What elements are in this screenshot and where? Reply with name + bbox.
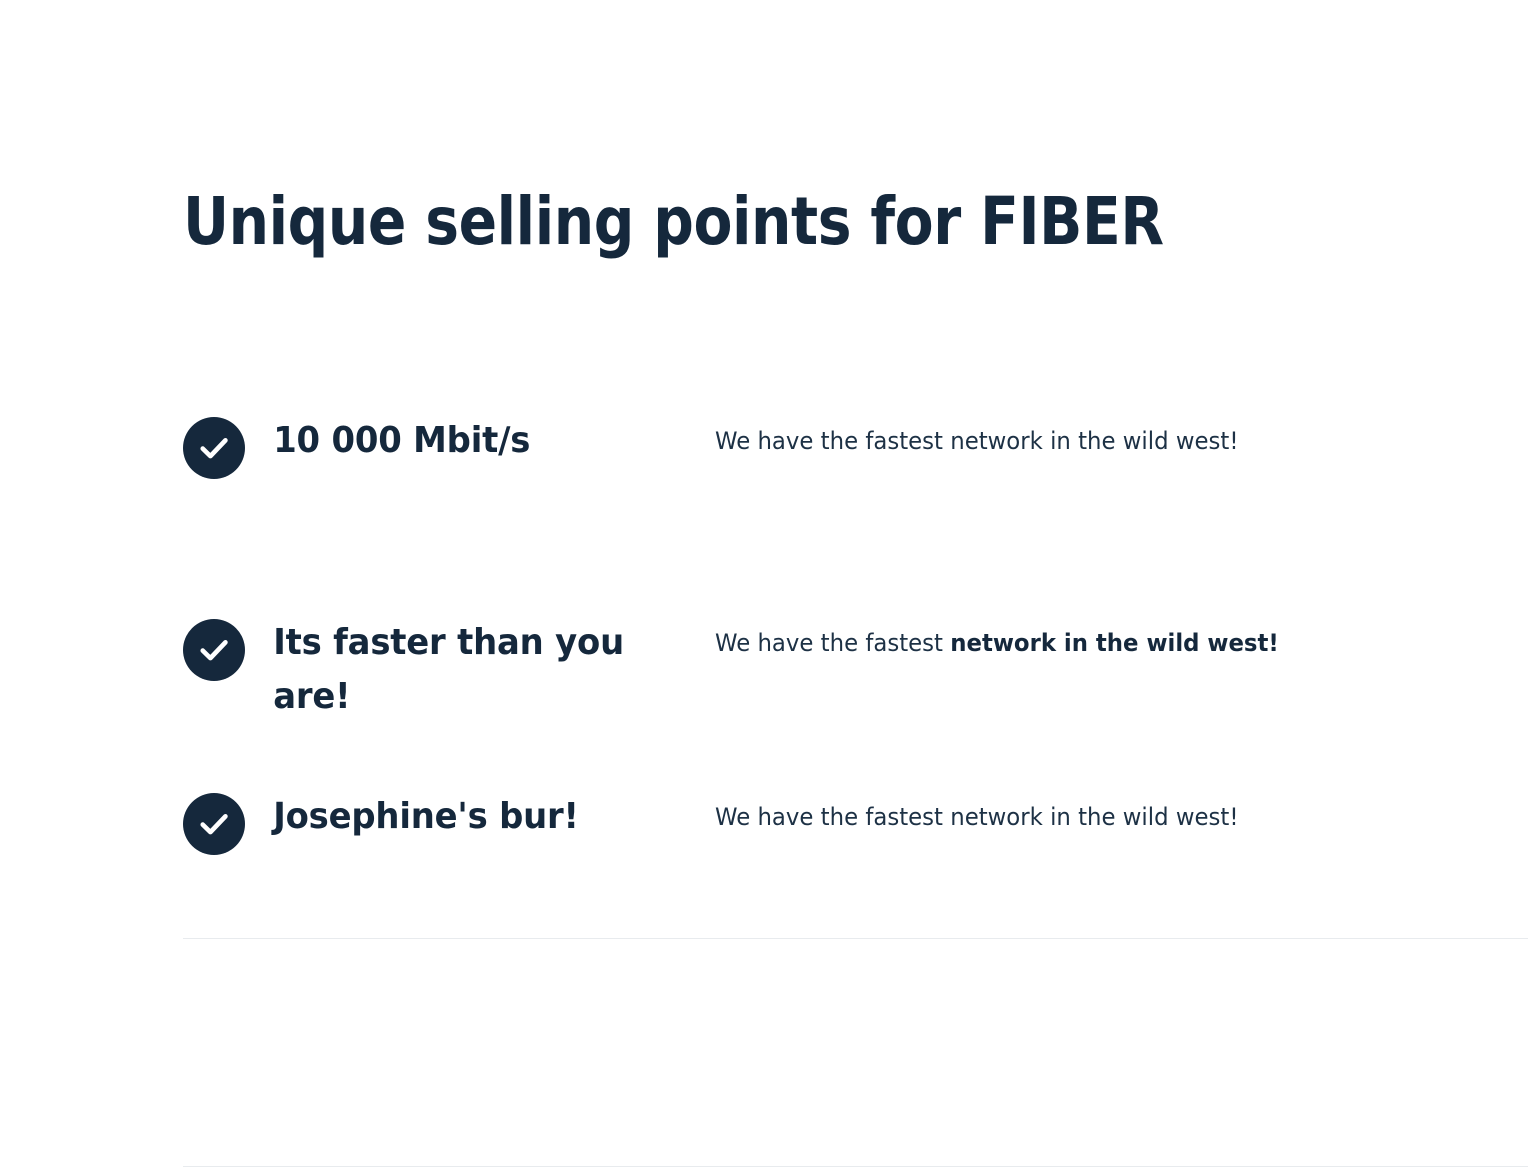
usp-body: We have the fastest network in the wild … [715,592,1492,661]
usp-heading: Its faster than you are! [245,592,687,724]
usp-body-lead: We have the fastest [715,629,950,657]
usp-list-item: Josephine's bur! We have the fastest net… [0,766,1533,912]
usp-body-lead: We have the fastest network in the wild … [715,803,1238,831]
usp-body: We have the fastest network in the wild … [715,766,1492,835]
usp-heading: 10 000 Mbit/s [245,390,687,468]
check-circle-icon [183,793,245,855]
page-title: Unique selling points for FIBER [183,180,1164,264]
usp-divider [183,938,1528,939]
usp-body-emphasis: network in the wild west! [950,629,1279,657]
usp-page: Unique selling points for FIBER 10 000 M… [0,0,1533,1040]
usp-list-item: 10 000 Mbit/s We have the fastest networ… [0,390,1533,536]
check-circle-icon [183,417,245,479]
check-circle-icon [183,619,245,681]
usp-body-lead: We have the fastest network in the wild … [715,427,1238,455]
usp-heading: Josephine's bur! [245,766,687,844]
usp-body: We have the fastest network in the wild … [715,390,1492,459]
usp-list-item: Its faster than you are! We have the fas… [0,592,1533,738]
usp-list: 10 000 Mbit/s We have the fastest networ… [0,390,1533,912]
